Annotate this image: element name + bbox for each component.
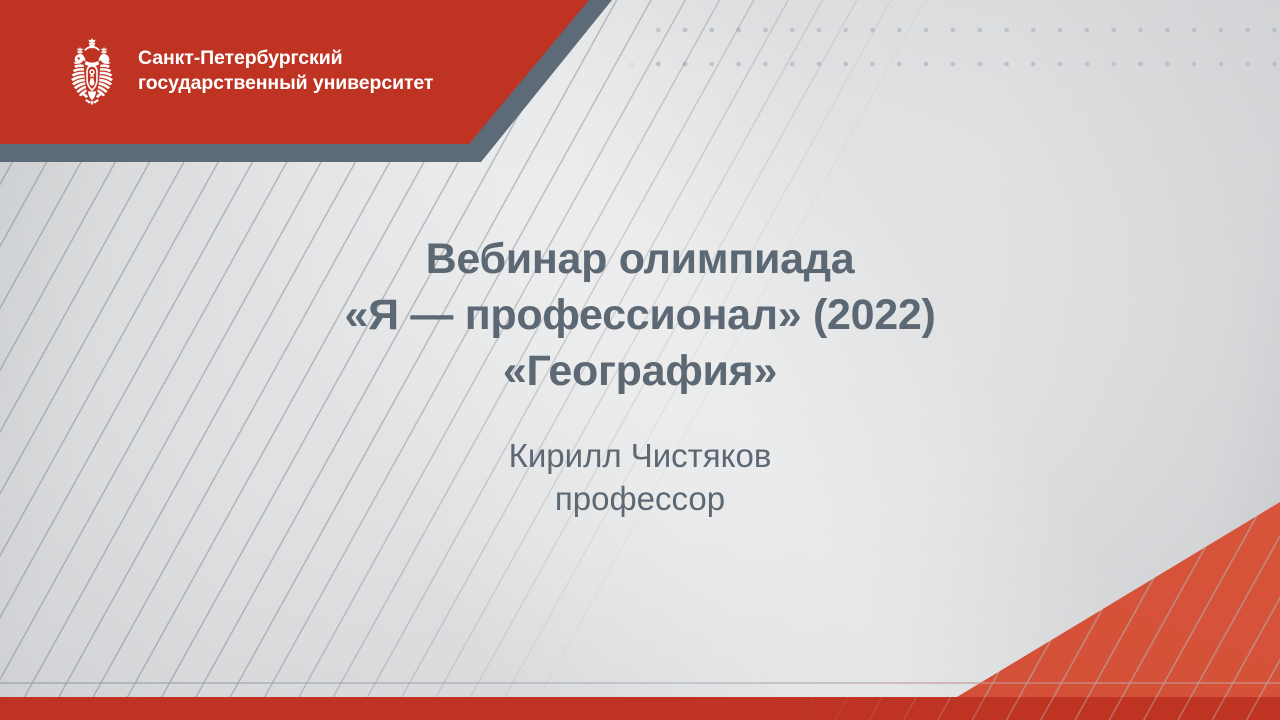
red-footer-bar <box>0 697 1280 720</box>
dot-grid-pattern <box>612 9 1280 91</box>
speaker-subtitle: Кирилл Чистяков профессор <box>0 434 1280 521</box>
university-logo-lockup: Санкт-Петербургский государственный унив… <box>62 36 433 106</box>
university-name: Санкт-Петербургский государственный унив… <box>138 46 433 97</box>
presentation-slide: Санкт-Петербургский государственный унив… <box>0 0 1280 720</box>
page-title: Вебинар олимпиада «Я — профессионал» (20… <box>0 232 1280 400</box>
footer-bar-stripes <box>0 697 1280 720</box>
spbu-double-headed-eagle-crest-icon <box>62 36 122 106</box>
footer-hairline-divider <box>0 682 1280 684</box>
slide-content: Вебинар олимпиада «Я — профессионал» (20… <box>0 232 1280 521</box>
